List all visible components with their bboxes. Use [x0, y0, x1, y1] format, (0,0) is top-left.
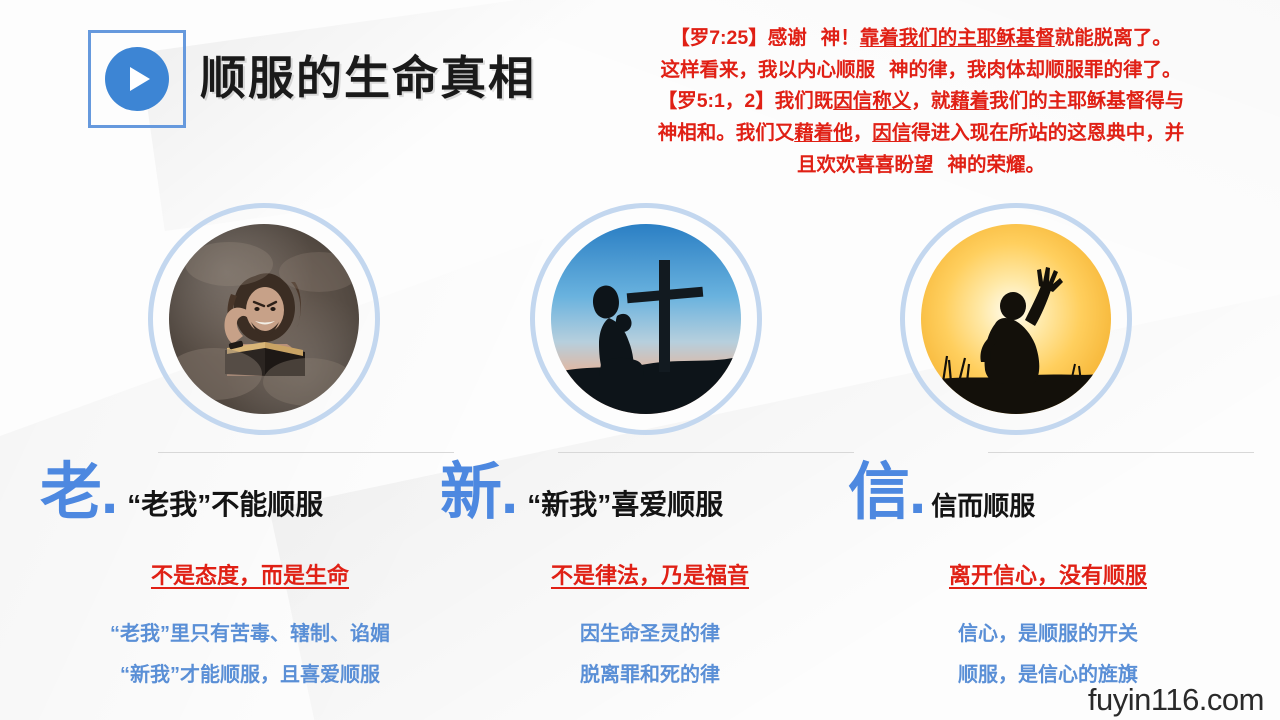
column-3-headline: 信而顺服 — [931, 493, 1035, 524]
circle-image-2 — [530, 203, 762, 435]
column-1-big-char: 老. — [40, 462, 117, 524]
column-2-red-line: 不是律法，乃是福音 — [440, 558, 860, 590]
angry-man-reading-book-image — [169, 224, 359, 414]
scripture-ref-2: 【罗5:1，2】 — [658, 90, 775, 112]
scripture-text: ，就 — [911, 90, 950, 112]
scripture-text: 神相和。我们又 — [658, 122, 795, 144]
column-3-body-line-1: 信心，是顺服的开关 — [848, 614, 1248, 655]
divider — [558, 452, 854, 453]
scripture-text: 神！ — [821, 27, 860, 49]
cross-and-praying-figure — [551, 224, 741, 414]
scripture-block: 【罗7:25】感谢神！靠着我们的主耶稣基督就能脱离了。 这样看来，我以内心顺服神… — [575, 24, 1267, 182]
divider — [988, 452, 1254, 453]
scripture-text: 这样看来，我以内心顺服 — [660, 59, 875, 81]
scripture-text: 神的荣耀。 — [948, 154, 1046, 176]
worshipper-raised-hand-sunrise-image — [921, 224, 1111, 414]
scripture-underlined-5: 因信 — [872, 122, 911, 144]
circle-image-3 — [900, 203, 1132, 435]
scripture-text: ， — [853, 122, 873, 144]
kneeling-prayer-at-cross-image — [551, 224, 741, 414]
scripture-underlined-2: 因信称义 — [833, 90, 911, 112]
column-1-body-line-2: “新我”才能顺服，且喜爱顺服 — [40, 655, 460, 696]
column-2-headline: “新我”喜爱顺服 — [527, 491, 723, 524]
worshipper-figure — [921, 224, 1111, 414]
scripture-passage-1-line-1: 【罗7:25】感谢神！靠着我们的主耶稣基督就能脱离了。 — [575, 24, 1267, 54]
scripture-text: 我们的主耶稣基督得与 — [989, 90, 1184, 112]
page-title: 顺服的生命真相 — [200, 42, 536, 108]
scripture-text: 神的律，我肉体却顺服罪的律了。 — [889, 59, 1182, 81]
scripture-passage-2-line-1: 【罗5:1，2】我们既因信称义，就藉着我们的主耶稣基督得与 — [575, 87, 1267, 117]
smoke-overlay — [169, 224, 359, 414]
column-2-body-line-2: 脱离罪和死的律 — [440, 655, 860, 696]
column-2-body: 因生命圣灵的律 脱离罪和死的律 — [440, 614, 860, 696]
scripture-passage-2-line-3: 且欢欢喜喜盼望神的荣耀。 — [575, 151, 1267, 181]
column-1-body: “老我”里只有苦毒、辖制、谄媚 “新我”才能顺服，且喜爱顺服 — [40, 614, 460, 696]
divider — [158, 452, 454, 453]
scripture-passage-1-line-2: 这样看来，我以内心顺服神的律，我肉体却顺服罪的律了。 — [575, 56, 1267, 86]
column-2-headline-row: 新. “新我”喜爱顺服 — [440, 462, 723, 524]
scripture-ref-1: 【罗7:25】 — [670, 27, 768, 49]
column-3-big-char: 信. — [848, 462, 925, 524]
column-3-red-line: 离开信心，没有顺服 — [848, 558, 1248, 590]
scripture-text: 我们既 — [775, 90, 834, 112]
slide-header: 顺服的生命真相 — [0, 0, 560, 150]
column-2-body-line-1: 因生命圣灵的律 — [440, 614, 860, 655]
scripture-underlined-1: 靠着我们的主耶稣基督 — [860, 27, 1055, 49]
slide-canvas: 顺服的生命真相 【罗7:25】感谢神！靠着我们的主耶稣基督就能脱离了。 这样看来… — [0, 0, 1280, 720]
circle-image-1 — [148, 203, 380, 435]
play-button-icon — [105, 47, 169, 111]
column-1-red-line: 不是态度，而是生命 — [40, 558, 460, 590]
scripture-underlined-3: 藉着 — [950, 90, 989, 112]
column-1-body-line-1: “老我”里只有苦毒、辖制、谄媚 — [40, 614, 460, 655]
scripture-passage-2-line-2: 神相和。我们又藉着他，因信得进入现在所站的这恩典中，并 — [575, 119, 1267, 149]
column-1-headline-row: 老. “老我”不能顺服 — [40, 462, 323, 524]
column-3-headline-row: 信. 信而顺服 — [848, 462, 1035, 524]
column-2-big-char: 新. — [440, 462, 517, 524]
scripture-text: 且欢欢喜喜盼望 — [797, 154, 934, 176]
scripture-underlined-4: 藉着他 — [794, 122, 853, 144]
scripture-text: 就能脱离了。 — [1055, 27, 1172, 49]
scripture-text: 感谢 — [768, 27, 807, 49]
scripture-text: 得进入现在所站的这恩典中，并 — [911, 122, 1184, 144]
column-1-headline: “老我”不能顺服 — [127, 491, 323, 524]
site-watermark: fuyin116.com — [1088, 682, 1264, 718]
